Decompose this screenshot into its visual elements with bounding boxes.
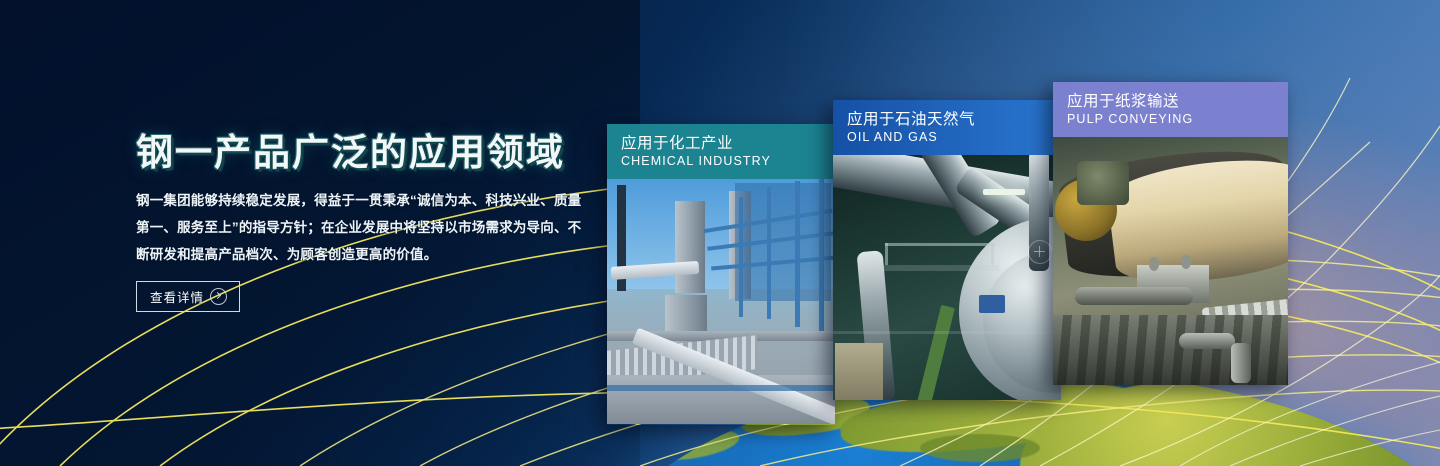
card-image-pulp-conveying [1053, 137, 1288, 385]
card-title-cn: 应用于化工产业 [621, 134, 821, 153]
application-card-oil-and-gas[interactable]: 应用于石油天然气 OIL AND GAS [833, 100, 1061, 400]
photo-railing [833, 331, 1061, 334]
hero-banner: 钢一产品广泛的应用领域 钢一集团能够持续稳定发展，得益于一贯秉承“诚信为本、科技… [0, 0, 1440, 466]
view-details-label: 查看详情 [150, 287, 204, 306]
photo-shaft [1075, 287, 1193, 305]
photo-tower [675, 201, 705, 293]
photo-green-pipe [917, 305, 955, 400]
card-title-en: CHEMICAL INDUSTRY [621, 154, 821, 168]
photo-machine-base [1053, 315, 1288, 385]
hero-description: 钢一集团能够持续稳定发展，得益于一贯秉承“诚信为本、科技兴业、质量第一、服务至上… [136, 187, 584, 268]
card-image-oil-and-gas [833, 155, 1061, 400]
application-card-chemical[interactable]: 应用于化工产业 CHEMICAL INDUSTRY [607, 124, 835, 425]
card-caption: 应用于石油天然气 OIL AND GAS [833, 100, 1061, 155]
card-caption: 应用于化工产业 CHEMICAL INDUSTRY [607, 124, 835, 179]
card-caption: 应用于纸浆输送 PULP CONVEYING [1053, 82, 1288, 137]
photo-steel-column [819, 179, 824, 331]
photo-walkway [877, 265, 999, 271]
photo-pipe [1179, 333, 1235, 349]
card-image-chemical-plant [607, 179, 835, 424]
photo-railing [885, 243, 888, 265]
photo-steel-column [739, 197, 743, 317]
hero-copy: 钢一产品广泛的应用领域 钢一集团能够持续稳定发展，得益于一贯秉承“诚信为本、科技… [136, 134, 596, 312]
chevron-right-circle-icon [210, 288, 227, 305]
application-card-pulp-conveying[interactable]: 应用于纸浆输送 PULP CONVEYING [1053, 82, 1288, 385]
photo-pipe [1231, 343, 1251, 383]
photo-valve [979, 295, 1005, 313]
photo-control-cabinet [835, 343, 883, 400]
card-title-cn: 应用于石油天然气 [847, 110, 1047, 129]
photo-railing [991, 243, 994, 265]
view-details-button[interactable]: 查看详情 [136, 281, 240, 312]
photo-railing [885, 243, 995, 246]
photo-steel-column [795, 181, 800, 327]
page-title: 钢一产品广泛的应用领域 [136, 134, 596, 173]
card-title-en: PULP CONVEYING [1067, 112, 1274, 126]
photo-steel-column [767, 187, 771, 319]
card-title-cn: 应用于纸浆输送 [1067, 92, 1274, 111]
photo-lamp [983, 189, 1025, 195]
card-title-en: OIL AND GAS [847, 130, 1047, 144]
photo-bearing-block [1077, 161, 1129, 205]
photo-rail [607, 385, 835, 391]
